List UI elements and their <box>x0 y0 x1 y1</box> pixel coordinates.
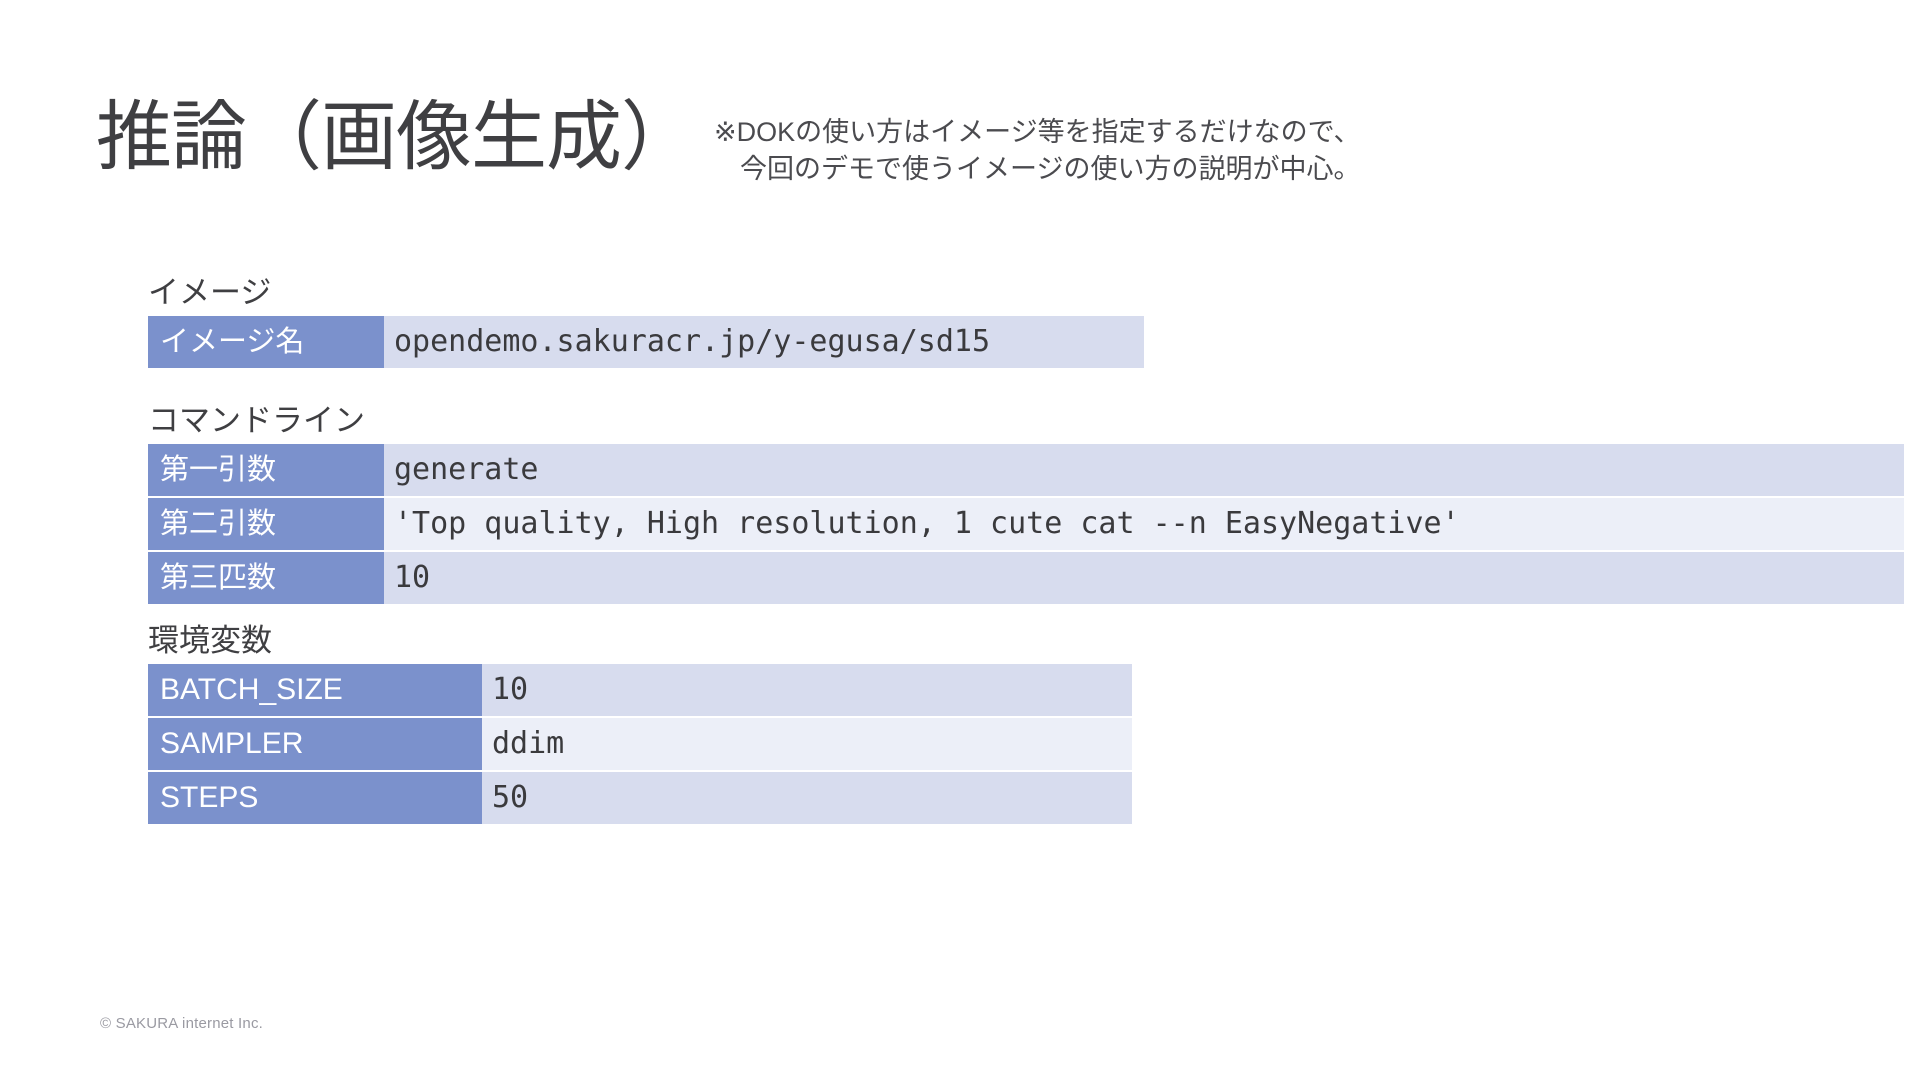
row-key: STEPS <box>148 771 482 824</box>
row-value: generate <box>384 444 1904 497</box>
table-row: 第三匹数 10 <box>148 551 1904 604</box>
title-annotation: ※DOKの使い方はイメージ等を指定するだけなので、 今回のデモで使うイメージの使… <box>714 114 1361 188</box>
section-image: イメージ イメージ名 opendemo.sakuracr.jp/y-egusa/… <box>148 272 1144 368</box>
row-value: 10 <box>384 551 1904 604</box>
table-row: イメージ名 opendemo.sakuracr.jp/y-egusa/sd15 <box>148 316 1144 368</box>
command-line-table: 第一引数 generate 第二引数 'Top quality, High re… <box>148 444 1904 604</box>
section-environment-variables: 環境変数 BATCH_SIZE 10 SAMPLER ddim STEPS 50 <box>148 620 1132 824</box>
row-key: SAMPLER <box>148 717 482 771</box>
slide-canvas: 推論（画像生成） ※DOKの使い方はイメージ等を指定するだけなので、 今回のデモ… <box>0 0 1920 1080</box>
row-key: 第一引数 <box>148 444 384 497</box>
image-table: イメージ名 opendemo.sakuracr.jp/y-egusa/sd15 <box>148 316 1144 368</box>
section-command-line: コマンドライン 第一引数 generate 第二引数 'Top quality,… <box>148 400 1904 604</box>
row-value: 10 <box>482 664 1132 717</box>
row-value: ddim <box>482 717 1132 771</box>
section-image-heading: イメージ <box>148 272 1144 314</box>
row-value: 'Top quality, High resolution, 1 cute ca… <box>384 497 1904 551</box>
row-key: BATCH_SIZE <box>148 664 482 717</box>
copyright-footer: © SAKURA internet Inc. <box>100 1015 263 1032</box>
title-annotation-line-1: ※DOKの使い方はイメージ等を指定するだけなので、 <box>714 117 1361 147</box>
title-annotation-line-2: 今回のデモで使うイメージの使い方の説明が中心。 <box>714 151 1361 188</box>
row-value: opendemo.sakuracr.jp/y-egusa/sd15 <box>384 316 1144 368</box>
table-row: 第二引数 'Top quality, High resolution, 1 cu… <box>148 497 1904 551</box>
table-row: 第一引数 generate <box>148 444 1904 497</box>
page-title: 推論（画像生成） <box>96 92 696 184</box>
row-key: 第二引数 <box>148 497 384 551</box>
environment-variables-table: BATCH_SIZE 10 SAMPLER ddim STEPS 50 <box>148 664 1132 824</box>
row-value: 50 <box>482 771 1132 824</box>
row-key: 第三匹数 <box>148 551 384 604</box>
table-row: BATCH_SIZE 10 <box>148 664 1132 717</box>
slide-header: 推論（画像生成） ※DOKの使い方はイメージ等を指定するだけなので、 今回のデモ… <box>96 92 1361 188</box>
row-key: イメージ名 <box>148 316 384 368</box>
section-command-line-heading: コマンドライン <box>148 400 1904 442</box>
table-row: SAMPLER ddim <box>148 717 1132 771</box>
section-environment-variables-heading: 環境変数 <box>148 620 1132 662</box>
table-row: STEPS 50 <box>148 771 1132 824</box>
